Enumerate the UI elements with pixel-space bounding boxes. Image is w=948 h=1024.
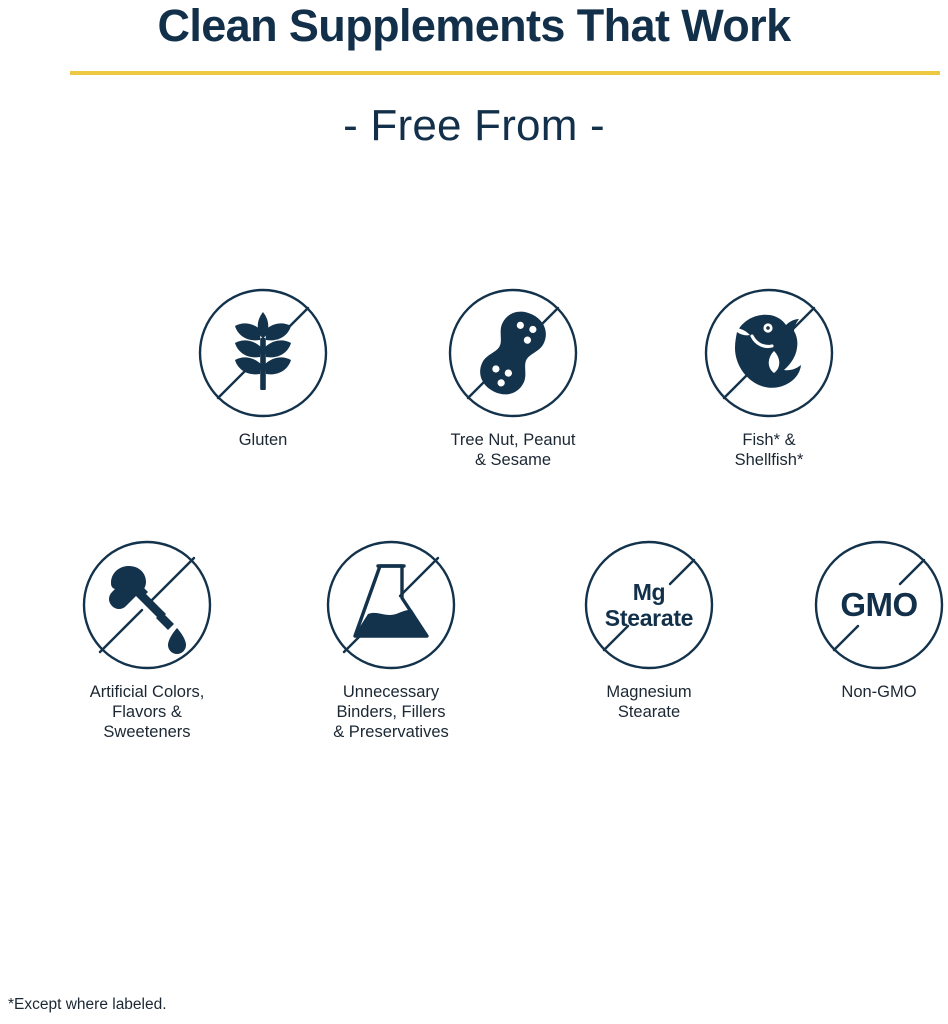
footnote: *Except where labeled.	[8, 996, 167, 1014]
magnesium-stearate-badge: Mg Stearate	[584, 540, 714, 670]
free-from-item-gluten: Gluten	[153, 288, 373, 450]
header: Clean Supplements That Work - Free From …	[0, 0, 948, 52]
magnesium-stearate-label: Magnesium Stearate	[539, 682, 759, 722]
free-from-item-magnesium-stearate: Mg Stearate Magnesium Stearate	[539, 540, 759, 722]
non-gmo-badge: GMO	[814, 540, 944, 670]
fish-shellfish-label: Fish* & Shellfish*	[659, 430, 879, 470]
fish-badge	[704, 288, 834, 418]
peanut-icon	[448, 288, 578, 418]
free-from-item-binders-fillers: Unnecessary Binders, Fillers & Preservat…	[281, 540, 501, 742]
non-gmo-label: Non-GMO	[769, 682, 948, 702]
binders-fillers-label: Unnecessary Binders, Fillers & Preservat…	[281, 682, 501, 742]
gluten-badge	[198, 288, 328, 418]
tree-nut-peanut-sesame-label: Tree Nut, Peanut & Sesame	[403, 430, 623, 470]
artificial-colors-badge	[82, 540, 212, 670]
wheat-icon	[198, 288, 328, 418]
free-from-item-fish-shellfish: Fish* & Shellfish*	[659, 288, 879, 470]
binders-fillers-badge	[326, 540, 456, 670]
flask-icon	[326, 540, 456, 670]
page-subtitle: - Free From -	[0, 96, 948, 156]
peanut-badge	[448, 288, 578, 418]
fish-icon	[704, 288, 834, 418]
free-from-item-artificial-colors: Artificial Colors, Flavors & Sweeteners	[37, 540, 257, 742]
page-title: Clean Supplements That Work	[0, 0, 948, 52]
no-symbol-icon	[814, 540, 944, 670]
dropper-icon	[82, 540, 212, 670]
artificial-colors-label: Artificial Colors, Flavors & Sweeteners	[37, 682, 257, 742]
free-from-item-non-gmo: GMO Non-GMO	[769, 540, 948, 702]
no-symbol-icon	[584, 540, 714, 670]
free-from-item-tree-nut-peanut-sesame: Tree Nut, Peanut & Sesame	[403, 288, 623, 470]
gluten-label: Gluten	[153, 430, 373, 450]
title-divider-rule	[70, 71, 940, 75]
